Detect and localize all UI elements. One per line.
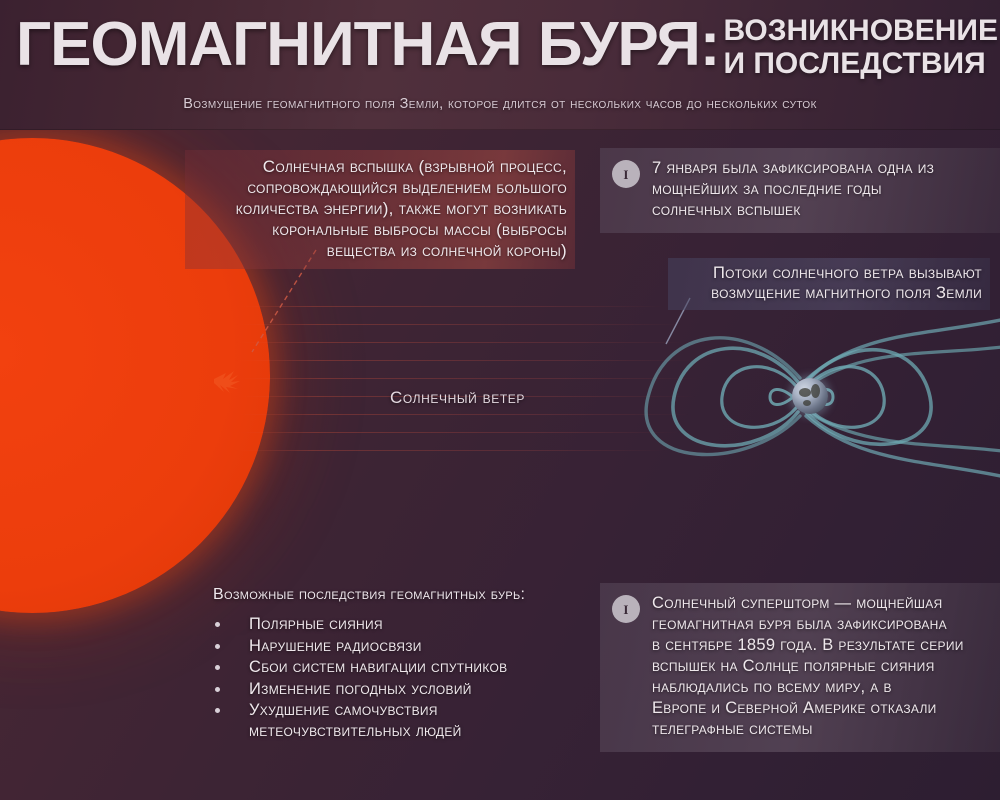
mag-line-1: Потоки солнечного ветра вызывают — [676, 263, 982, 283]
list-item: Ухудшение самочувствия метеочувствительн… — [213, 700, 593, 741]
info-bottom-line-7: телеграфные системы — [652, 719, 964, 740]
list-item: Нарушение радиосвязи — [213, 636, 593, 657]
earth-globe — [792, 378, 828, 414]
list-item: Сбои систем навигации спутников — [213, 657, 593, 678]
info-icon: i — [612, 595, 640, 623]
magnetic-field-description: Потоки солнечного ветра вызывают возмуще… — [668, 258, 990, 310]
flare-line-4: корональные выбросы массы (выбросы — [193, 219, 567, 240]
flare-line-5: вещества из солнечной короны) — [193, 240, 567, 261]
list-item: Изменение погодных условий — [213, 679, 593, 700]
bullet-icon — [215, 622, 220, 627]
info-bottom-line-5: наблюдались по всему миру, а в — [652, 677, 964, 698]
info-top-text: 7 января была зафиксирована одна из мощн… — [652, 158, 934, 221]
consequences-list: Полярные сияния Нарушение радиосвязи Сбо… — [213, 614, 593, 741]
info-top-line-3: солнечных вспышек — [652, 200, 934, 221]
info-bottom-line-4: вспышек на Солнце полярные сияния — [652, 656, 964, 677]
info-bottom-text: Солнечный супершторм — мощнейшая геомагн… — [652, 593, 964, 740]
list-item-label: Ухудшение самочувствия — [249, 701, 438, 719]
title-main: ГЕОМАГНИТНАЯ БУРЯ: — [16, 14, 719, 76]
list-item-label: Сбои систем навигации спутников — [249, 658, 507, 676]
page-title: ГЕОМАГНИТНАЯ БУРЯ: ВОЗНИКНОВЕНИЕ И ПОСЛЕ… — [16, 14, 986, 86]
solar-wind-streaks — [235, 300, 705, 470]
list-item-label: Полярные сияния — [249, 615, 383, 633]
info-bottom-line-3: в сентябре 1859 года. В результате серии — [652, 635, 964, 656]
info-box-january-flare: i 7 января была зафиксирована одна из мо… — [600, 148, 1000, 233]
info-top-line-2: мощнейших за последние годы — [652, 179, 934, 200]
header-banner: ГЕОМАГНИТНАЯ БУРЯ: ВОЗНИКНОВЕНИЕ И ПОСЛЕ… — [0, 0, 1000, 130]
info-bottom-line-2: геомагнитная буря была зафиксирована — [652, 614, 964, 635]
flare-line-1: Солнечная вспышка (взрывной процесс, — [193, 156, 567, 177]
solar-wind-label: Солнечный ветер — [390, 388, 525, 408]
list-item-label: Нарушение радиосвязи — [249, 637, 422, 655]
title-line-1: ВОЗНИКНОВЕНИЕ — [723, 14, 998, 47]
bullet-icon — [215, 644, 220, 649]
list-item-label: Изменение погодных условий — [249, 680, 472, 698]
info-top-line-1: 7 января была зафиксирована одна из — [652, 158, 934, 179]
consequences-block: Возможные последствия геомагнитных бурь:… — [213, 585, 593, 742]
page-subtitle: Возмущение геомагнитного поля Земли, кот… — [0, 96, 1000, 112]
title-line-2: И ПОСЛЕДСТВИЯ — [723, 47, 998, 80]
mag-line-2: возмущение магнитного поля Земли — [676, 283, 982, 303]
solar-flare-description: Солнечная вспышка (взрывной процесс, соп… — [185, 150, 575, 269]
info-bottom-line-6: Европе и Северной Америке отказали — [652, 698, 964, 719]
consequences-heading: Возможные последствия геомагнитных бурь: — [213, 585, 593, 605]
list-item-label-cont: метеочувствительных людей — [249, 721, 593, 742]
list-item: Полярные сияния — [213, 614, 593, 635]
infographic-canvas: ГЕОМАГНИТНАЯ БУРЯ: ВОЗНИКНОВЕНИЕ И ПОСЛЕ… — [0, 0, 1000, 800]
title-secondary: ВОЗНИКНОВЕНИЕ И ПОСЛЕДСТВИЯ — [723, 14, 998, 80]
bullet-icon — [215, 708, 220, 713]
flare-line-3: количества энергии), также могут возника… — [193, 198, 567, 219]
info-icon: i — [612, 160, 640, 188]
bullet-icon — [215, 665, 220, 670]
info-bottom-line-1: Солнечный супершторм — мощнейшая — [652, 593, 964, 614]
bullet-icon — [215, 687, 220, 692]
flare-line-2: сопровождающийся выделением большого — [193, 177, 567, 198]
info-box-superstorm-1859: i Солнечный супершторм — мощнейшая геома… — [600, 583, 1000, 752]
